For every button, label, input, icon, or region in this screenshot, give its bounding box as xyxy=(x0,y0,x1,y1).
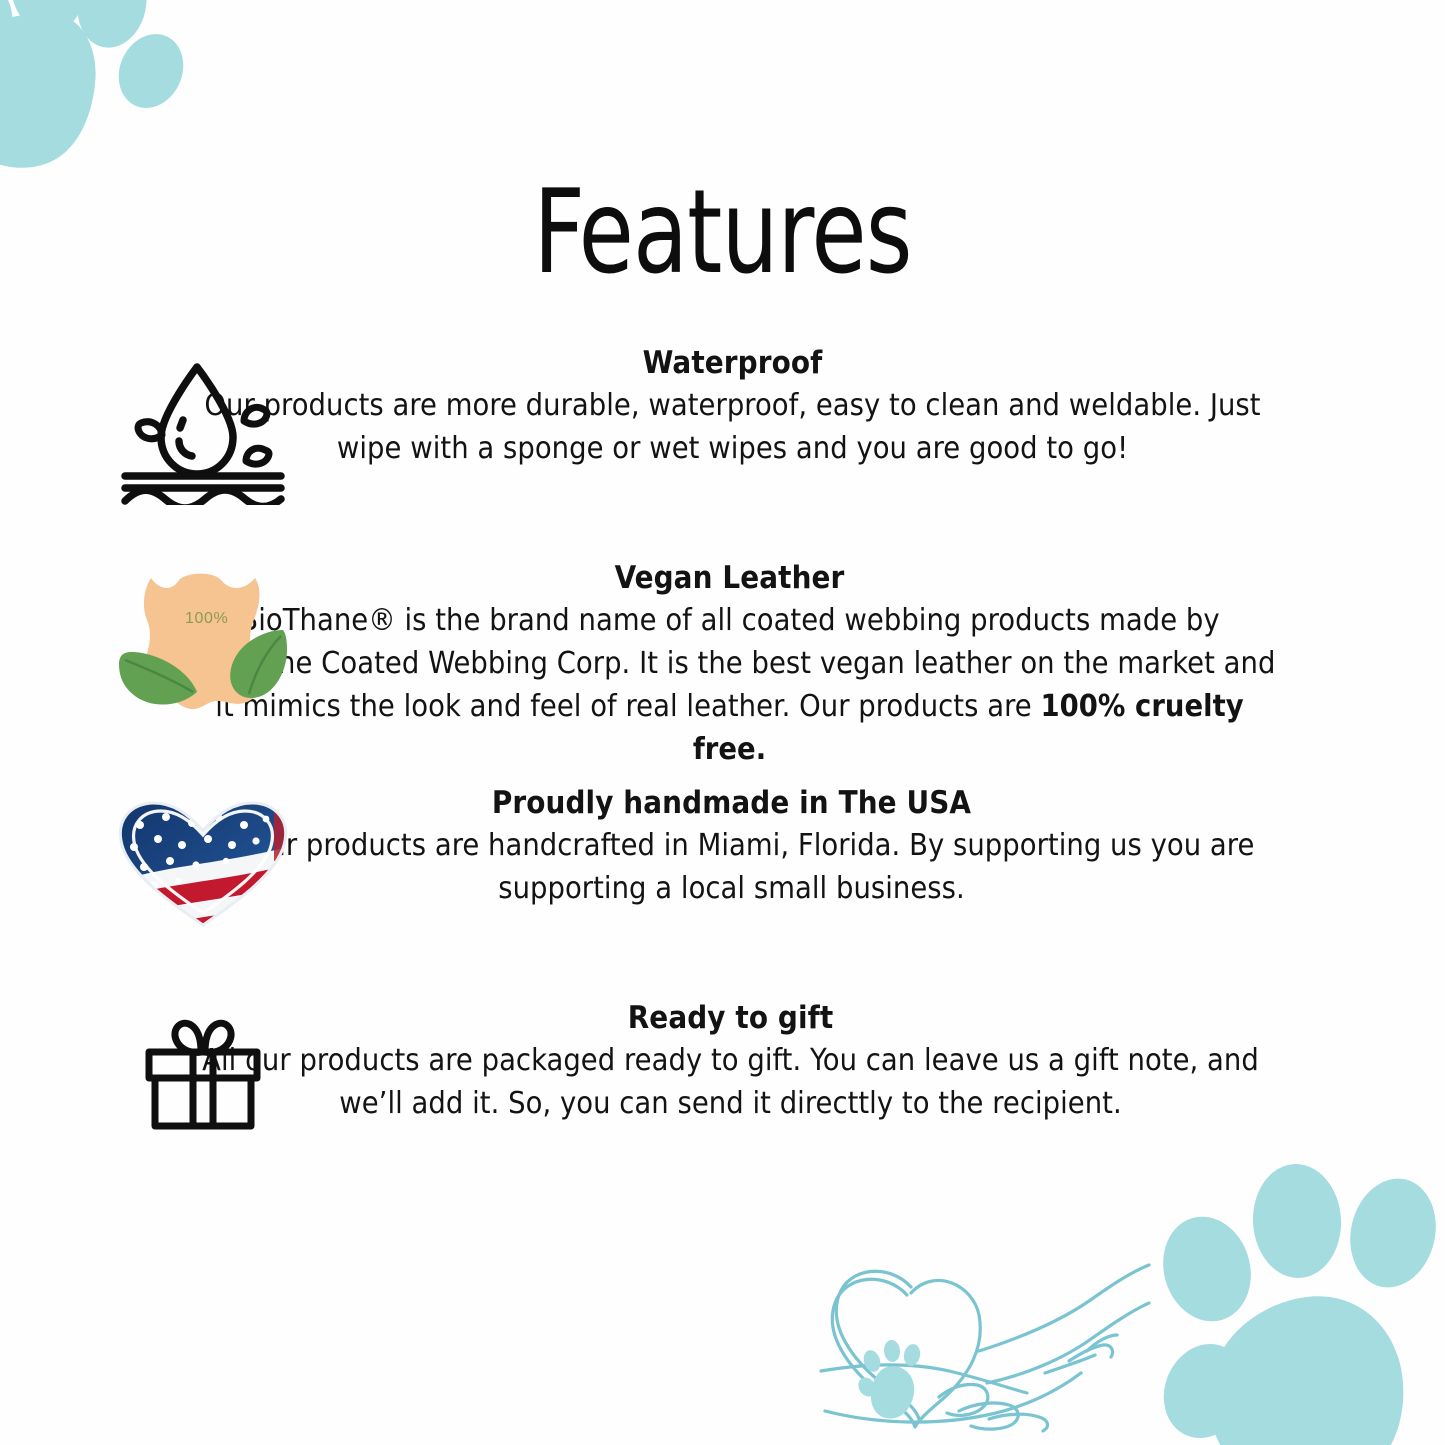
hand-holding-paw-heart-icon xyxy=(819,1175,1249,1435)
leather-hide-leaves-icon: 100% xyxy=(115,568,291,720)
feature-item-vegan-leather: 100% Vegan Leather BioThane® is the bran… xyxy=(0,560,1445,785)
feature-text-block: Waterproof Our products are more durable… xyxy=(170,345,1275,470)
paw-print-icon xyxy=(0,0,198,194)
feature-heading: Vegan Leather xyxy=(175,560,1285,597)
page-title: Features xyxy=(101,175,1344,291)
feature-description: All our products are packaged ready to g… xyxy=(181,1039,1281,1125)
feature-heading: Proudly handmade in The USA xyxy=(199,785,1264,822)
feature-icon-wrap xyxy=(108,357,298,505)
feature-icon-wrap xyxy=(108,1010,298,1132)
feature-item-waterproof: Waterproof Our products are more durable… xyxy=(0,345,1445,560)
feature-heading: Ready to gift xyxy=(181,1000,1281,1037)
usa-flag-heart-icon xyxy=(114,799,292,929)
feature-text-block: Ready to gift All our products are packa… xyxy=(165,1000,1281,1125)
feature-description: BioThane® is the brand name of all coate… xyxy=(175,599,1285,771)
feature-item-made-in-usa: Proudly handmade in The USA All our prod… xyxy=(0,785,1445,1000)
gift-box-icon xyxy=(137,1010,269,1132)
feature-item-ready-to-gift: Ready to gift All our products are packa… xyxy=(0,1000,1445,1200)
feature-icon-wrap: 100% xyxy=(108,568,298,720)
leather-percent-label: 100% xyxy=(185,610,228,627)
feature-description: Our products are more durable, waterproo… xyxy=(190,384,1275,470)
feature-list: Waterproof Our products are more durable… xyxy=(0,345,1445,1200)
feature-text-block: Vegan Leather BioThane® is the brand nam… xyxy=(161,560,1285,771)
feature-icon-wrap xyxy=(108,799,298,929)
water-drop-waves-icon xyxy=(117,357,289,505)
paw-print-icon xyxy=(1145,1159,1445,1445)
feature-text-block: Proudly handmade in The USA All our prod… xyxy=(181,785,1264,910)
feature-description: All our products are handcrafted in Miam… xyxy=(199,824,1264,910)
features-page: Features xyxy=(0,0,1445,1445)
feature-heading: Waterproof xyxy=(190,345,1275,382)
